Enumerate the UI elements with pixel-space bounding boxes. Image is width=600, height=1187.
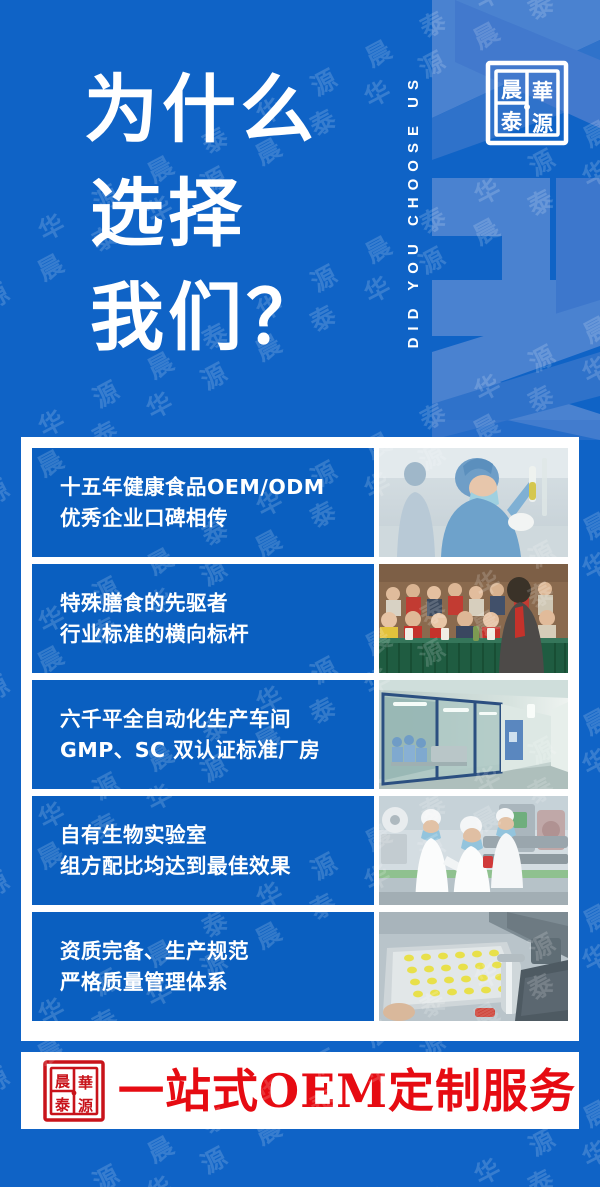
page-title-line-2: 选择 [84, 162, 384, 266]
svg-text:晨: 晨 [501, 77, 523, 102]
page-title: 为什么 选择 我们？ [84, 58, 384, 370]
svg-text:泰: 泰 [54, 1096, 71, 1114]
feature-card-2-line-2: 行业标准的横向标杆 [60, 619, 374, 650]
feature-row: 特殊膳食的先驱者 行业标准的横向标杆 [32, 564, 568, 673]
photo-cleanroom-corridor [379, 680, 568, 789]
svg-text:源: 源 [78, 1097, 93, 1115]
feature-row: 资质完备、生产规范 严格质量管理体系 [32, 912, 568, 1021]
feature-card-4-line-1: 自有生物实验室 [60, 820, 374, 851]
feature-card-1-line-2: 优秀企业口碑相传 [60, 503, 374, 534]
feature-row: 自有生物实验室 组方配比均达到最佳效果 [32, 796, 568, 905]
features-list: 十五年健康食品OEM/ODM 优秀企业口碑相传 [32, 448, 568, 1030]
feature-card-2-line-1: 特殊膳食的先驱者 [60, 588, 374, 619]
feature-card-3-line-2: GMP、SC 双认证标准厂房 [60, 735, 374, 766]
feature-card-2[interactable]: 特殊膳食的先驱者 行业标准的横向标杆 [32, 564, 374, 673]
feature-card-4-line-2: 组方配比均达到最佳效果 [60, 851, 374, 882]
svg-text:源: 源 [532, 111, 553, 136]
poster-root: 为什么 选择 我们？ DID YOU CHOOSE US 晨 華 泰 源 [0, 0, 600, 1187]
feature-card-3-line-1: 六千平全自动化生产车间 [60, 704, 374, 735]
feature-card-1[interactable]: 十五年健康食品OEM/ODM 优秀企业口碑相传 [32, 448, 374, 557]
feature-card-3[interactable]: 六千平全自动化生产车间 GMP、SC 双认证标准厂房 [32, 680, 374, 789]
feature-card-1-line-1: 十五年健康食品OEM/ODM [60, 472, 374, 503]
vertical-tagline-text: DID YOU CHOOSE US [405, 73, 422, 348]
feature-row: 六千平全自动化生产车间 GMP、SC 双认证标准厂房 [32, 680, 568, 789]
svg-text:華: 華 [532, 79, 553, 104]
feature-card-4[interactable]: 自有生物实验室 组方配比均达到最佳效果 [32, 796, 374, 905]
company-seal-icon: 晨 華 泰 源 [42, 1059, 106, 1123]
svg-text:晨: 晨 [55, 1072, 71, 1090]
feature-card-5-line-2: 严格质量管理体系 [60, 967, 374, 998]
cta-banner[interactable]: 晨 華 泰 源 一站式OEM定制服务 [21, 1052, 579, 1129]
features-panel: 十五年健康食品OEM/ODM 优秀企业口碑相传 [21, 437, 579, 1041]
feature-row: 十五年健康食品OEM/ODM 优秀企业口碑相传 [32, 448, 568, 557]
vertical-tagline: DID YOU CHOOSE US [398, 14, 428, 408]
page-title-line-3: 我们？ [84, 266, 384, 370]
feature-card-5-line-1: 资质完备、生产规范 [60, 936, 374, 967]
page-title-line-1: 为什么 [84, 58, 384, 162]
photo-staff-production-line [379, 796, 568, 905]
photo-tablet-packaging-machine [379, 912, 568, 1021]
header-section: 为什么 选择 我们？ DID YOU CHOOSE US 晨 華 泰 源 [0, 0, 600, 440]
svg-text:泰: 泰 [500, 109, 523, 134]
feature-card-5[interactable]: 资质完备、生产规范 严格质量管理体系 [32, 912, 374, 1021]
svg-text:華: 華 [78, 1074, 93, 1092]
photo-conference-audience [379, 564, 568, 673]
company-seal-icon: 晨 華 泰 源 [483, 57, 571, 149]
photo-lab-technician-testing [379, 448, 568, 557]
cta-banner-text: 一站式OEM定制服务 [118, 1064, 576, 1118]
